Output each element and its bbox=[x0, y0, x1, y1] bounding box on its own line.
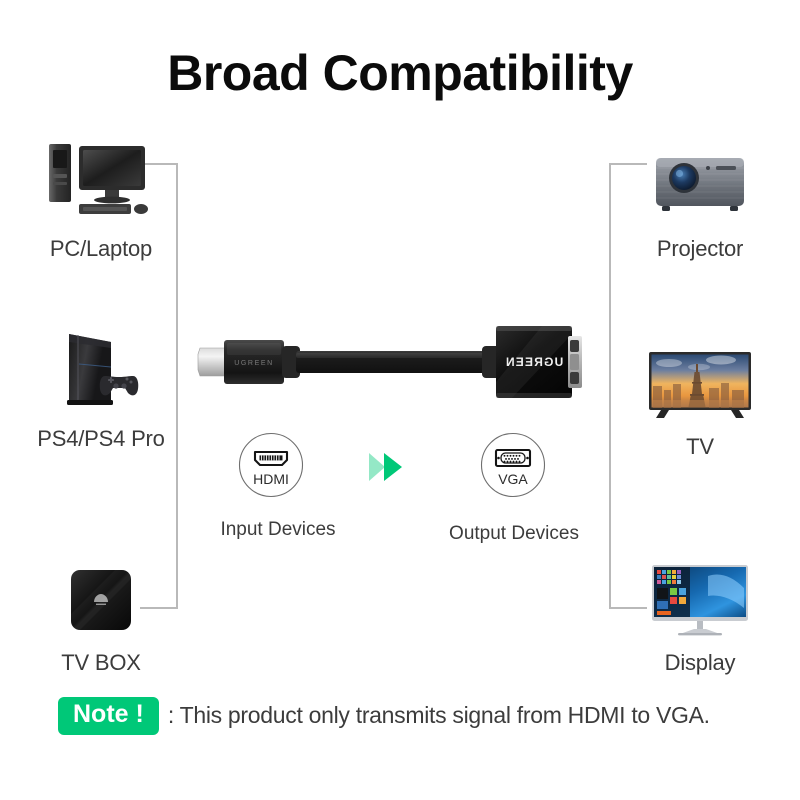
hdmi-badge-label: HDMI bbox=[253, 471, 289, 487]
device-tv-box: TV BOX bbox=[11, 546, 191, 676]
device-ps4: PS4/PS4 Pro bbox=[11, 322, 191, 452]
device-label: TV BOX bbox=[11, 650, 191, 676]
device-label: PS4/PS4 Pro bbox=[11, 426, 191, 452]
device-pc-laptop: PC/Laptop bbox=[11, 132, 191, 262]
television-icon bbox=[610, 330, 790, 422]
note-banner: Note ! : This product only transmits sig… bbox=[58, 697, 710, 735]
tv-box-icon bbox=[11, 546, 191, 638]
svg-text:UGREEN: UGREEN bbox=[234, 360, 274, 367]
note-chip: Note ! bbox=[58, 697, 159, 735]
game-console-icon bbox=[11, 322, 191, 414]
svg-text:UGREEN: UGREEN bbox=[505, 355, 564, 369]
device-label: Projector bbox=[610, 236, 790, 262]
monitor-icon bbox=[610, 546, 790, 638]
note-text: : This product only transmits signal fro… bbox=[168, 702, 710, 729]
projector-icon bbox=[610, 132, 790, 224]
device-projector: Projector bbox=[610, 132, 790, 262]
double-right-arrow-icon bbox=[368, 450, 408, 484]
desktop-computer-icon bbox=[11, 132, 191, 224]
input-devices-label: Input Devices bbox=[178, 519, 378, 541]
device-label: TV bbox=[610, 434, 790, 460]
hdmi-port-badge: HDMI bbox=[238, 432, 304, 498]
infographic-page: Broad Compatibility bbox=[0, 0, 800, 800]
device-display: Display bbox=[610, 546, 790, 676]
device-label: PC/Laptop bbox=[11, 236, 191, 262]
vga-badge-label: VGA bbox=[498, 471, 528, 487]
hdmi-to-vga-adapter-product: UGREEN UGREEN bbox=[196, 320, 586, 406]
page-title: Broad Compatibility bbox=[0, 44, 800, 102]
output-devices-label: Output Devices bbox=[414, 523, 614, 545]
device-label: Display bbox=[610, 650, 790, 676]
vga-port-badge: VGA bbox=[480, 432, 546, 498]
device-tv: TV bbox=[610, 330, 790, 460]
